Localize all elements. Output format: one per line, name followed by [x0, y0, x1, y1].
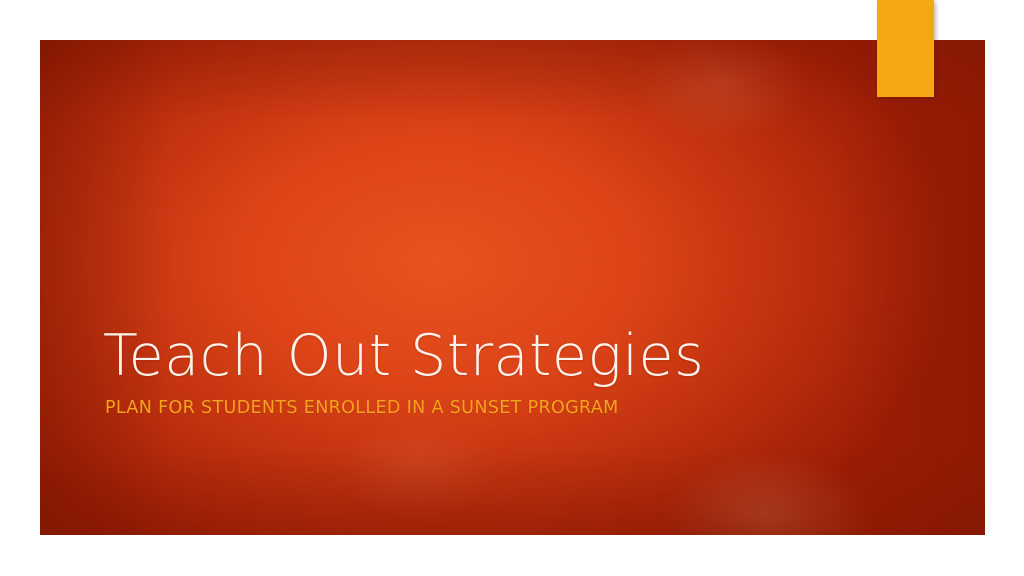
slide-canvas: Teach Out Strategies PLAN FOR STUDENTS E…: [0, 0, 1024, 576]
slide-vignette-overlay: [40, 40, 985, 535]
slide-subtitle: PLAN FOR STUDENTS ENROLLED IN A SUNSET P…: [105, 398, 893, 419]
slide-background-panel: [40, 40, 985, 535]
title-text-block: Teach Out Strategies PLAN FOR STUDENTS E…: [103, 326, 893, 419]
slide-title: Teach Out Strategies: [103, 326, 893, 386]
accent-rectangle-shape: [877, 0, 934, 97]
